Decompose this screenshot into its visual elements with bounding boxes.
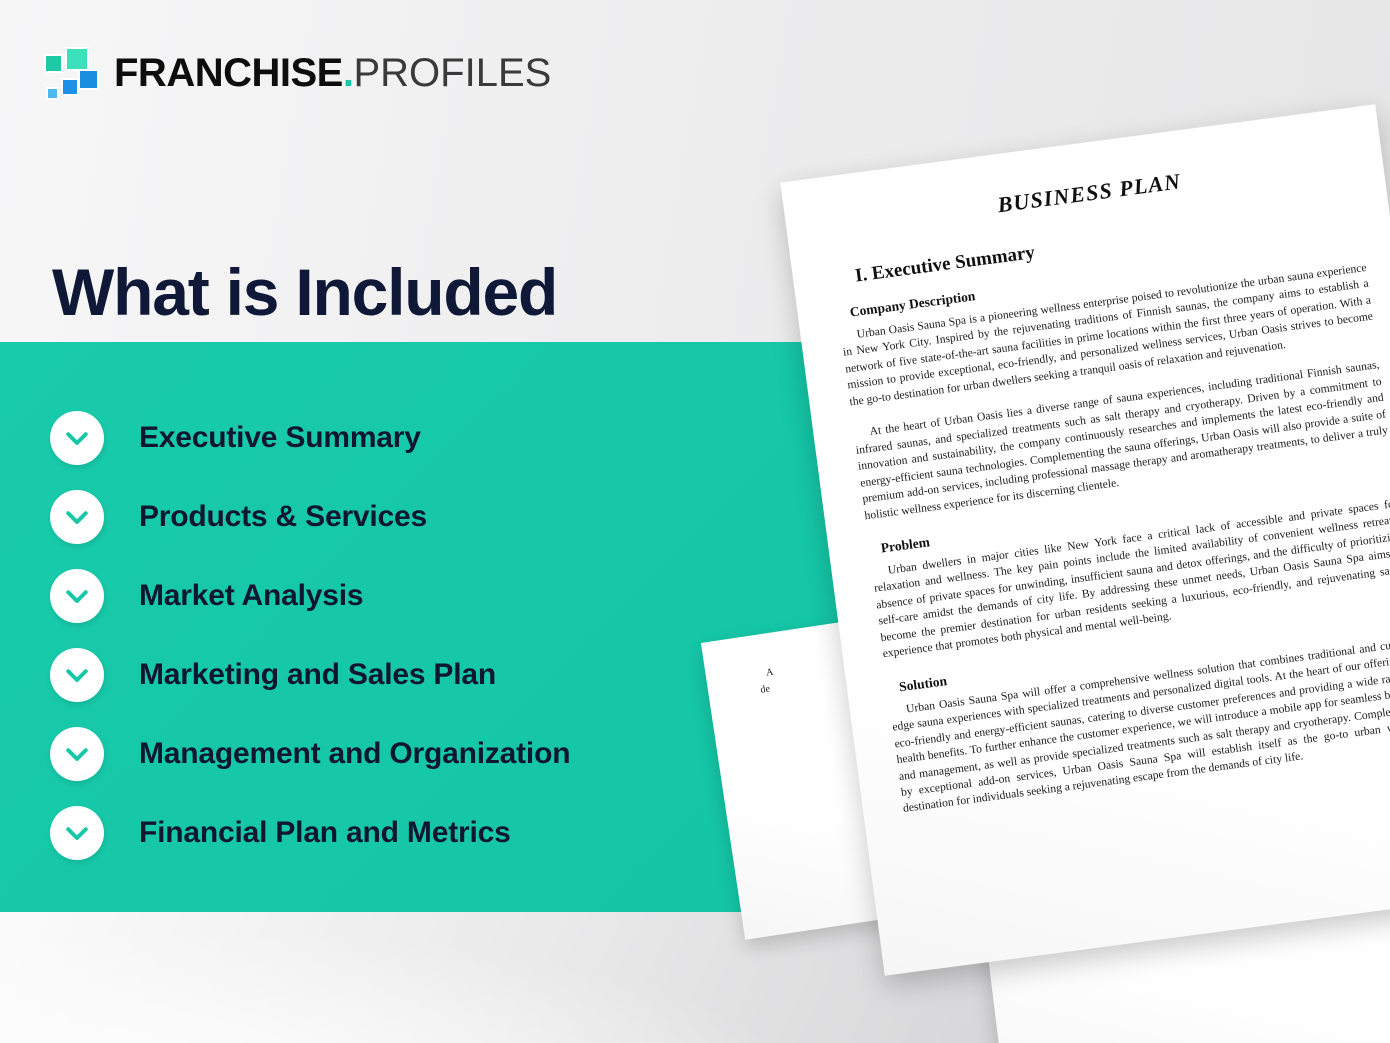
list-item-label: Financial Plan and Metrics xyxy=(139,816,511,850)
list-item[interactable]: Marketing and Sales Plan xyxy=(50,635,750,714)
list-item[interactable]: Products & Services xyxy=(50,477,750,556)
list-item[interactable]: Market Analysis xyxy=(50,556,750,635)
logo-square-teal-medium xyxy=(44,54,63,73)
document-page-front[interactable]: BUSINESS PLAN I. Executive Summary Compa… xyxy=(780,104,1390,975)
list-item-label: Executive Summary xyxy=(139,421,421,455)
list-item-label: Marketing and Sales Plan xyxy=(139,658,496,692)
list-item[interactable]: Management and Organization xyxy=(50,714,750,793)
chevron-down-icon xyxy=(50,569,104,623)
list-item[interactable]: Executive Summary xyxy=(50,398,750,477)
list-item[interactable]: Financial Plan and Metrics xyxy=(50,793,750,872)
five-squares-mark-icon xyxy=(44,47,100,99)
brand-word-franchise: FRANCHISE xyxy=(114,51,343,95)
chevron-down-icon xyxy=(50,727,104,781)
document-preview-stack: an wellness ands of city life. A de BUSI… xyxy=(680,120,1390,1043)
list-item-label: Market Analysis xyxy=(139,579,363,613)
list-item-label: Management and Organization xyxy=(139,737,570,771)
brand-wordmark: FRANCHISE.PROFILES xyxy=(114,53,551,93)
logo-square-blue-large xyxy=(78,69,99,90)
page-title: What is Included xyxy=(52,258,557,327)
logo-square-blue-medium xyxy=(61,78,79,96)
chevron-down-icon xyxy=(50,490,104,544)
brand-word-profiles: PROFILES xyxy=(353,51,551,95)
brand-word-dot: . xyxy=(343,51,354,95)
page-fragment-text: A xyxy=(765,667,774,679)
chevron-down-icon xyxy=(50,411,104,465)
included-checklist: Executive Summary Products & Services Ma… xyxy=(50,398,750,872)
document-subsection-company-description: Company Description Urban Oasis Sauna Sp… xyxy=(837,237,1390,524)
logo-square-blue-small xyxy=(46,87,59,100)
chevron-down-icon xyxy=(50,806,104,860)
chevron-down-icon xyxy=(50,648,104,702)
page-fragment-text: de xyxy=(760,683,771,695)
list-item-label: Products & Services xyxy=(139,500,427,534)
slide-canvas: FRANCHISE.PROFILES What is Included Exec… xyxy=(0,0,1390,1043)
brand-logo[interactable]: FRANCHISE.PROFILES xyxy=(44,42,551,104)
document-page-content: BUSINESS PLAN I. Executive Summary Compa… xyxy=(780,104,1390,975)
logo-square-teal-large xyxy=(65,47,89,71)
